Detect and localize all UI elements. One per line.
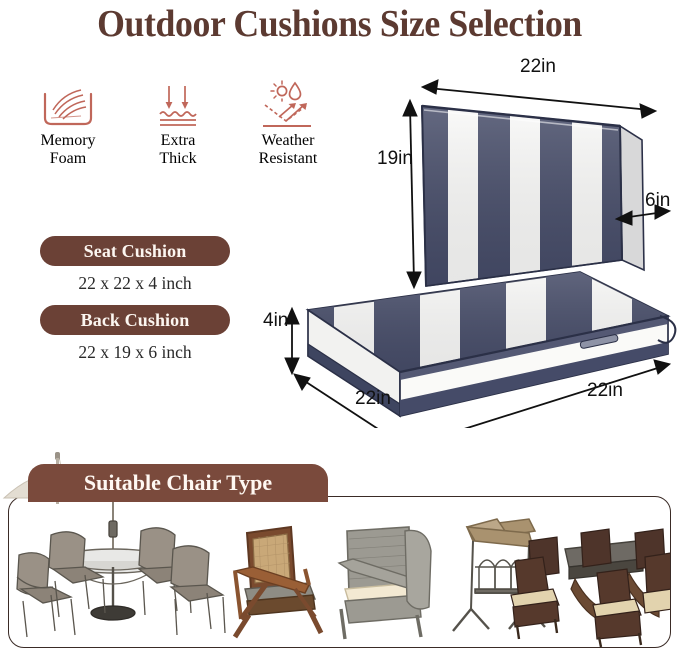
size-list: Seat Cushion 22 x 22 x 4 inch Back Cushi… (30, 236, 240, 374)
back-height-label: 19in (377, 148, 413, 170)
suitable-chair-type-panel (8, 496, 671, 648)
rattan-dining-set (511, 529, 671, 647)
feature-memory-foam: Memory Foam (18, 78, 118, 188)
feature-label: Extra Thick (128, 132, 228, 168)
feature-label: Memory Foam (18, 132, 118, 168)
wicker-armchair (339, 527, 431, 639)
cushion-illustration (250, 48, 679, 428)
patio-dining-set-with-umbrella (17, 499, 225, 637)
back-cushion-badge: Back Cushion (40, 305, 230, 335)
back-cushion-shape (418, 98, 644, 298)
extra-thick-icon (128, 78, 228, 132)
suitable-chair-type-header: Suitable Chair Type (28, 464, 328, 502)
wooden-armchair (235, 527, 321, 637)
chair-illustrations (9, 497, 671, 647)
feature-extra-thick: Extra Thick (128, 78, 228, 188)
page-title: Outdoor Cushions Size Selection (20, 2, 658, 46)
seat-depth-label: 22in (587, 380, 623, 402)
seat-cushion-badge: Seat Cushion (40, 236, 230, 266)
seat-cushion-dimensions: 22 x 22 x 4 inch (30, 273, 240, 294)
seat-thickness-label: 4in (263, 310, 288, 332)
memory-foam-icon (18, 78, 118, 132)
back-depth-label: 6in (645, 190, 670, 212)
infographic-root: Outdoor Cushions Size Selection Memory F… (0, 0, 679, 656)
suitable-chair-type-label: Suitable Chair Type (84, 470, 272, 496)
back-cushion-dimensions: 22 x 19 x 6 inch (30, 342, 240, 363)
seat-width-label: 22in (355, 388, 391, 410)
back-width-label: 22in (520, 56, 556, 78)
